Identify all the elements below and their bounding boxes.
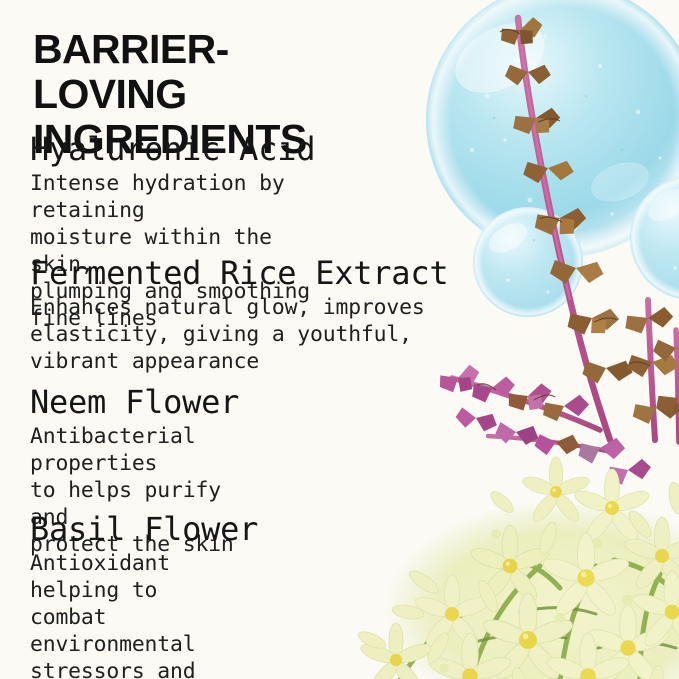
ingredient-poster: BARRIER-LOVING INGREDIENTS Hyaluronic Ac… <box>0 0 679 679</box>
ingredient-name: Fermented Rice Extract <box>30 255 448 291</box>
ingredient-description: Antioxidant helping to combat environmen… <box>30 550 258 679</box>
gel-sphere-group <box>426 0 679 317</box>
ingredient-name: Hyaluronic Acid <box>30 131 315 167</box>
ingredient-description: Enhances natural glow, improves elastici… <box>30 294 448 375</box>
ingredient-name: Neem Flower <box>30 384 239 420</box>
basil-spike-group <box>436 15 679 487</box>
ingredient-block-fermented-rice-extract: Fermented Rice Extract Enhances natural … <box>30 255 448 375</box>
neem-flower-group <box>356 457 679 679</box>
ingredient-block-basil-flower: Basil Flower Antioxidant helping to comb… <box>30 511 258 679</box>
ingredient-name: Basil Flower <box>30 511 258 547</box>
